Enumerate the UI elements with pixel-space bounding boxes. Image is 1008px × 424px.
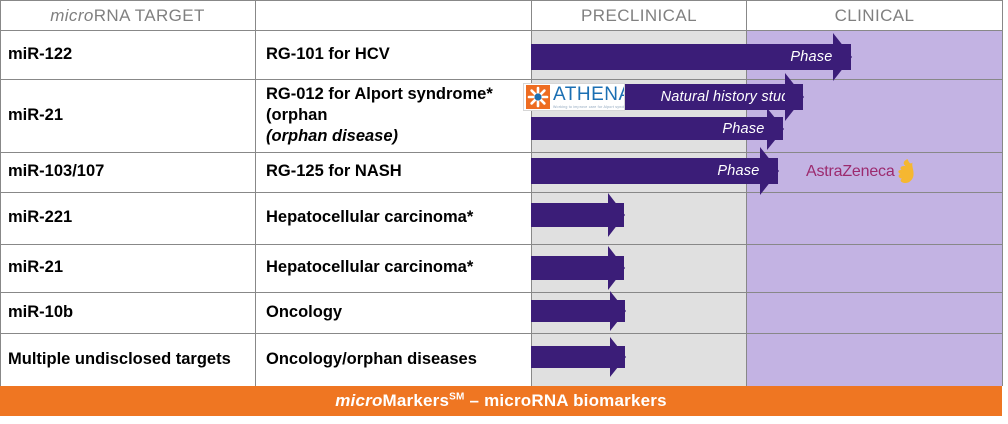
athena-logo: ATHENAWorking to improve care for Alport… (523, 83, 625, 111)
row-target-cell: miR-103/107 (8, 152, 255, 192)
pipeline-arrow: Phase 2 (531, 44, 851, 70)
row-target-cell: Multiple undisclosed targets (8, 333, 255, 386)
athena-starburst-icon (526, 85, 550, 109)
header-target: microRNA TARGET (0, 2, 255, 30)
header-target-prefix: micro (50, 6, 94, 25)
header-preclinical: PRECLINICAL (532, 2, 746, 30)
pipeline-arrow-label: Natural history study (661, 89, 803, 105)
row-program-text: RG-125 for NASH (266, 161, 402, 182)
pipeline-arrow-head (767, 108, 784, 150)
row-program-label: Oncology (266, 303, 342, 321)
pipeline-arrow-head (760, 147, 779, 195)
row-program-text: Oncology (266, 302, 342, 323)
row-target-cell: miR-10b (8, 292, 255, 333)
athena-wordmark: ATHENAWorking to improve care for Alport… (553, 85, 625, 110)
row-target-cell: miR-21 (8, 244, 255, 292)
astrazeneca-swirl-icon (893, 158, 917, 184)
athena-name: ATHENA (553, 85, 625, 104)
grid-vline (1002, 0, 1003, 386)
row-program-label: RG-125 for NASH (266, 162, 402, 180)
row-target-label: miR-10b (8, 302, 73, 323)
row-program-text: Oncology/orphan diseases (266, 349, 477, 370)
pipeline-arrow-head (608, 193, 625, 237)
row-target-label: Multiple undisclosed targets (8, 349, 231, 370)
header-clinical: CLINICAL (747, 2, 1002, 30)
pipeline-arrow-head (610, 291, 626, 331)
pipeline-arrow (531, 300, 625, 322)
pipeline-arrow-head (785, 73, 804, 121)
pipeline-arrow (531, 203, 624, 227)
row-program-text: Hepatocellular carcinoma* (266, 207, 473, 228)
pipeline-arrow: Phase 1 (531, 158, 778, 184)
row-program-cell: RG-125 for NASH (266, 152, 531, 192)
astrazeneca-logo: AstraZeneca (806, 160, 917, 184)
row-program-cell: RG-101 for HCV (266, 30, 531, 79)
row-target-label: miR-21 (8, 257, 63, 278)
pipeline-arrow: Phase 1 (531, 117, 783, 140)
row-program-label: RG-012 for Alport syndrome* (orphan (266, 85, 493, 124)
astrazeneca-wordmark: AstraZeneca (806, 163, 895, 181)
banner-sup: SM (449, 391, 464, 402)
row-target-cell: miR-221 (8, 192, 255, 244)
row-target-label: miR-221 (8, 207, 72, 228)
row-program-cell: Hepatocellular carcinoma* (266, 244, 531, 292)
pipeline-arrow-head (610, 337, 626, 377)
row-target-cell: miR-21 (8, 79, 255, 152)
micromarkers-banner: microMarkersSM – microRNA biomarkers (0, 386, 1002, 416)
row-program-cell: Oncology (266, 292, 531, 333)
row-target-label: miR-21 (8, 105, 63, 126)
header-target-suffix: RNA TARGET (94, 6, 205, 25)
grid-vline (255, 0, 256, 386)
pipeline-arrow-head (833, 33, 852, 81)
row-program-label: Hepatocellular carcinoma* (266, 208, 473, 226)
header-program (256, 2, 531, 30)
pipeline-arrow-head (608, 246, 625, 290)
pipeline-arrow (531, 346, 625, 368)
row-program-cell: Oncology/orphan diseases (266, 333, 531, 386)
pipeline-chart: microRNA TARGET PRECLINICAL CLINICAL miR… (0, 0, 1008, 424)
row-program-text: Hepatocellular carcinoma* (266, 257, 473, 278)
banner-prefix: micro (335, 391, 382, 410)
row-program-cell: RG-012 for Alport syndrome* (orphan(orph… (266, 79, 531, 152)
row-target-label: miR-122 (8, 44, 72, 65)
row-program-label-italic: (orphan disease) (266, 126, 527, 147)
grid-vline (0, 0, 1, 386)
row-program-cell: Hepatocellular carcinoma* (266, 192, 531, 244)
grid-hline (0, 0, 1002, 1)
row-target-cell: miR-122 (8, 30, 255, 79)
pipeline-arrow (531, 256, 624, 280)
athena-tagline: Working to improve care for Alport syndr… (553, 106, 625, 110)
row-program-text: RG-101 for HCV (266, 44, 390, 65)
banner-suffix: – microRNA biomarkers (465, 391, 667, 410)
row-target-label: miR-103/107 (8, 161, 104, 182)
row-program-label: Oncology/orphan diseases (266, 350, 477, 368)
row-program-text: RG-012 for Alport syndrome* (orphan(orph… (266, 84, 527, 147)
banner-brand: Markers (383, 391, 450, 410)
row-program-label: Hepatocellular carcinoma* (266, 258, 473, 276)
row-program-label: RG-101 for HCV (266, 45, 390, 63)
